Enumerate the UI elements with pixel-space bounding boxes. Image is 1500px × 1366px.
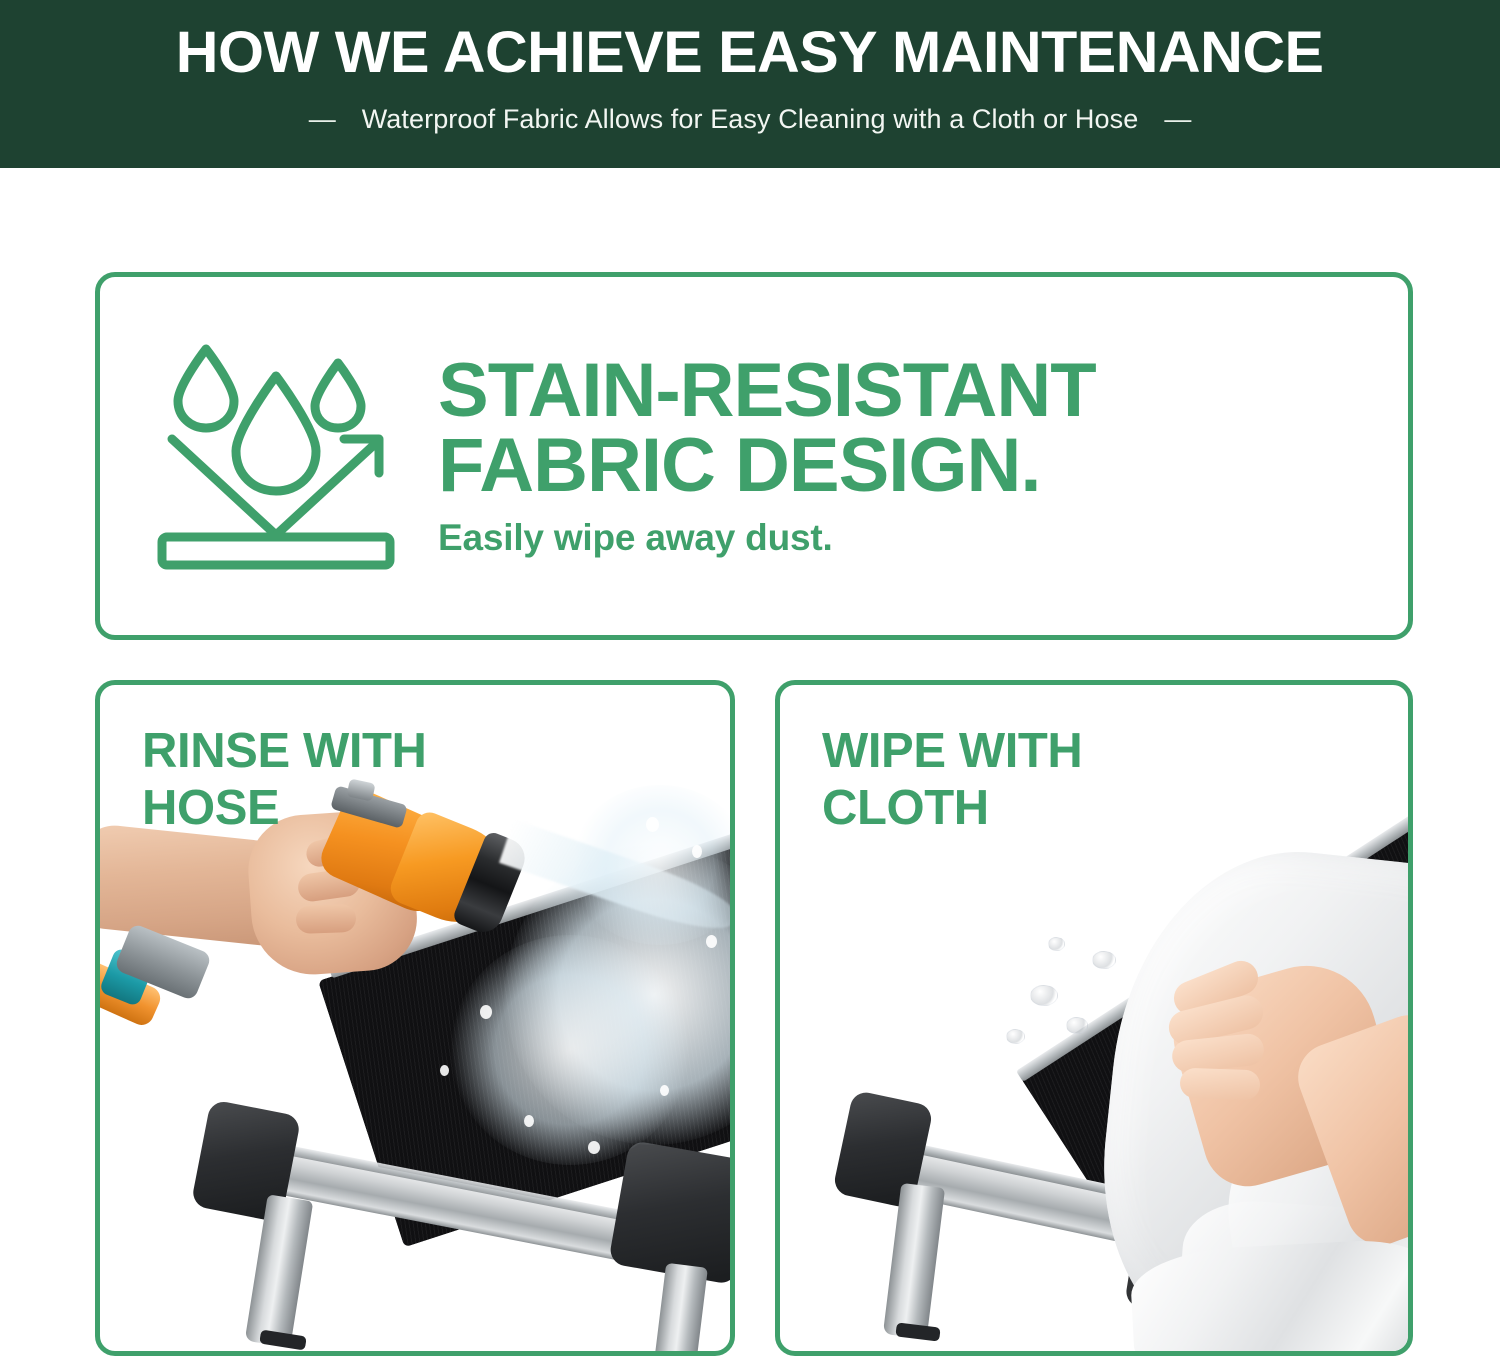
water-repellent-fabric-icon [148, 331, 408, 581]
card-rinse-with-hose: RINSE WITH HOSE [95, 680, 735, 1356]
cot-leg-left [883, 1183, 945, 1339]
subtitle-row: — Waterproof Fabric Allows for Easy Clea… [309, 104, 1192, 135]
page-title: HOW WE ACHIEVE EASY MAINTENANCE [176, 24, 1324, 82]
water-droplet [480, 1005, 492, 1019]
knuckle-3 [296, 904, 357, 934]
water-droplet [646, 817, 659, 832]
water-splash-secondary [450, 935, 690, 1165]
card-title-rinse: RINSE WITH HOSE [142, 723, 427, 837]
dash-left-icon: — [309, 106, 336, 133]
water-droplet [692, 845, 702, 858]
page-header: HOW WE ACHIEVE EASY MAINTENANCE — Waterp… [0, 0, 1500, 168]
water-droplet [600, 789, 609, 801]
feature-heading-line1: STAIN-RESISTANT [438, 353, 1096, 428]
feature-heading-line2: FABRIC DESIGN. [438, 428, 1096, 503]
card-title-wipe: WIPE WITH CLOTH [822, 723, 1082, 837]
water-droplet-on-mesh [1092, 951, 1116, 969]
card-wipe-with-cloth: WIPE WITH CLOTH [775, 680, 1413, 1356]
water-droplet [440, 1065, 449, 1076]
finger-pinky [1180, 1068, 1261, 1101]
water-droplet-on-mesh [1006, 1029, 1025, 1044]
water-droplet [524, 1115, 534, 1127]
cot-leg-tip-left [895, 1322, 940, 1341]
feature-text-block: STAIN-RESISTANT FABRIC DESIGN. Easily wi… [438, 353, 1096, 559]
water-droplet [588, 1141, 600, 1154]
feature-card-stain-resistant: STAIN-RESISTANT FABRIC DESIGN. Easily wi… [95, 272, 1413, 640]
water-droplet [552, 811, 563, 825]
cot-leg-right [654, 1263, 708, 1351]
water-droplet-on-mesh [1030, 985, 1058, 1006]
dash-right-icon: — [1164, 106, 1191, 133]
page-subtitle: Waterproof Fabric Allows for Easy Cleani… [362, 104, 1139, 135]
water-droplet-on-mesh [1066, 1017, 1088, 1034]
water-droplet [660, 1085, 669, 1096]
water-droplet-on-mesh [1048, 937, 1065, 951]
feature-subtext: Easily wipe away dust. [438, 517, 1096, 559]
water-droplet [706, 935, 717, 948]
cot-leg-tip-left [259, 1329, 307, 1350]
feature-card-content: STAIN-RESISTANT FABRIC DESIGN. Easily wi… [100, 277, 1408, 635]
